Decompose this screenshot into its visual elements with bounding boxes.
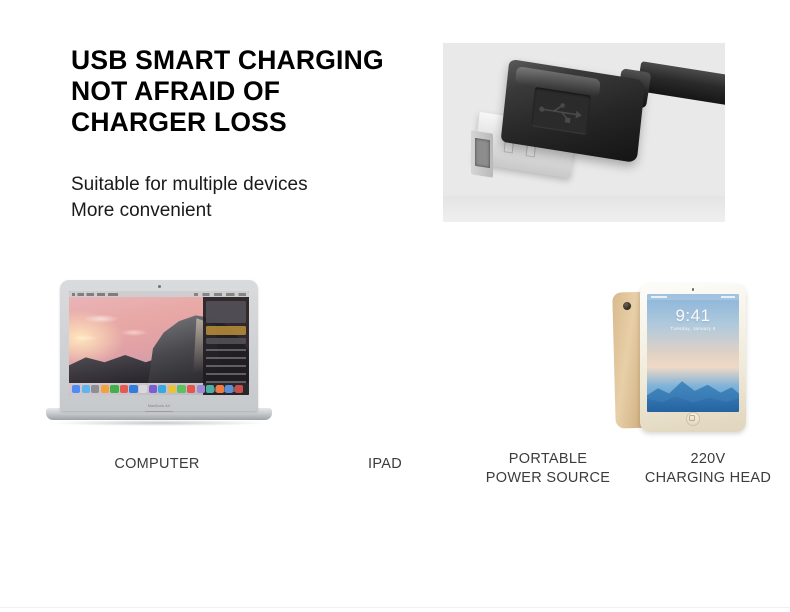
caption-line: IPAD (308, 455, 462, 474)
macbook-illustration: MacBook Air (46, 280, 272, 440)
subheadline-line-1: Suitable for multiple devices (71, 172, 441, 198)
dock-icon (129, 385, 137, 393)
device-computer: MacBook Air (0, 270, 300, 445)
dock-icon (101, 385, 109, 393)
dock-icon (168, 385, 176, 393)
caption-computer: COMPUTER (60, 455, 254, 474)
headline-block: USB SMART CHARGING NOT AFRAID OF CHARGER… (71, 45, 441, 138)
dock-icon (158, 385, 166, 393)
bottom-divider (0, 607, 790, 608)
headline-line-3: CHARGER LOSS (71, 107, 441, 138)
notification-center-panel (203, 297, 249, 395)
macbook-model-label: MacBook Air (60, 404, 258, 408)
dock-icon (82, 385, 90, 393)
notification-card (206, 301, 246, 323)
usb-connector-photo (443, 43, 725, 222)
caption-line: 220V (628, 450, 788, 469)
usb-cable (637, 61, 725, 108)
device-row: MacBook Air 9:41 Tuesday, January 6 (0, 270, 790, 445)
macbook-screen (69, 291, 249, 395)
notification-card (206, 326, 246, 335)
dock-icon (91, 385, 99, 393)
notification-card (206, 338, 246, 344)
headline-line-1: USB SMART CHARGING (71, 45, 441, 76)
caption-ipad: IPAD (308, 455, 462, 474)
dock-icon (197, 385, 205, 393)
dock-icon (216, 385, 224, 393)
subheadline-block: Suitable for multiple devices More conve… (71, 172, 441, 224)
dock-icon (206, 385, 214, 393)
dock-icon (149, 385, 157, 393)
macbook-lid: MacBook Air (60, 280, 258, 411)
macbook-shadow (52, 420, 266, 426)
caption-line: COMPUTER (60, 455, 254, 474)
subheadline-line-2: More convenient (71, 198, 441, 224)
caption-power-source: PORTABLE POWER SOURCE (462, 450, 634, 488)
dock-icon (235, 385, 243, 393)
headline-line-2: NOT AFRAID OF (71, 76, 441, 107)
caption-row: COMPUTER IPAD PORTABLE POWER SOURCE 220V… (0, 455, 790, 505)
photo-floor (443, 196, 725, 222)
usb-shell-cavity (475, 138, 490, 168)
dock-icon (120, 385, 128, 393)
dock-icon (72, 385, 80, 393)
dock-icon (110, 385, 118, 393)
dock-icon (225, 385, 233, 393)
dock-icon (139, 385, 147, 393)
notification-list (206, 349, 246, 383)
macbook-camera-icon (158, 285, 161, 288)
caption-line: POWER SOURCE (462, 469, 634, 488)
macos-dock (69, 383, 203, 395)
caption-line: PORTABLE (462, 450, 634, 469)
device-charging-head (630, 270, 790, 445)
device-power-bank (465, 270, 630, 445)
dock-icon (177, 385, 185, 393)
caption-line: CHARGING HEAD (628, 469, 788, 488)
caption-charging-head: 220V CHARGING HEAD (628, 450, 788, 488)
device-ipad: 9:41 Tuesday, January 6 (300, 270, 465, 445)
dock-icon (187, 385, 195, 393)
